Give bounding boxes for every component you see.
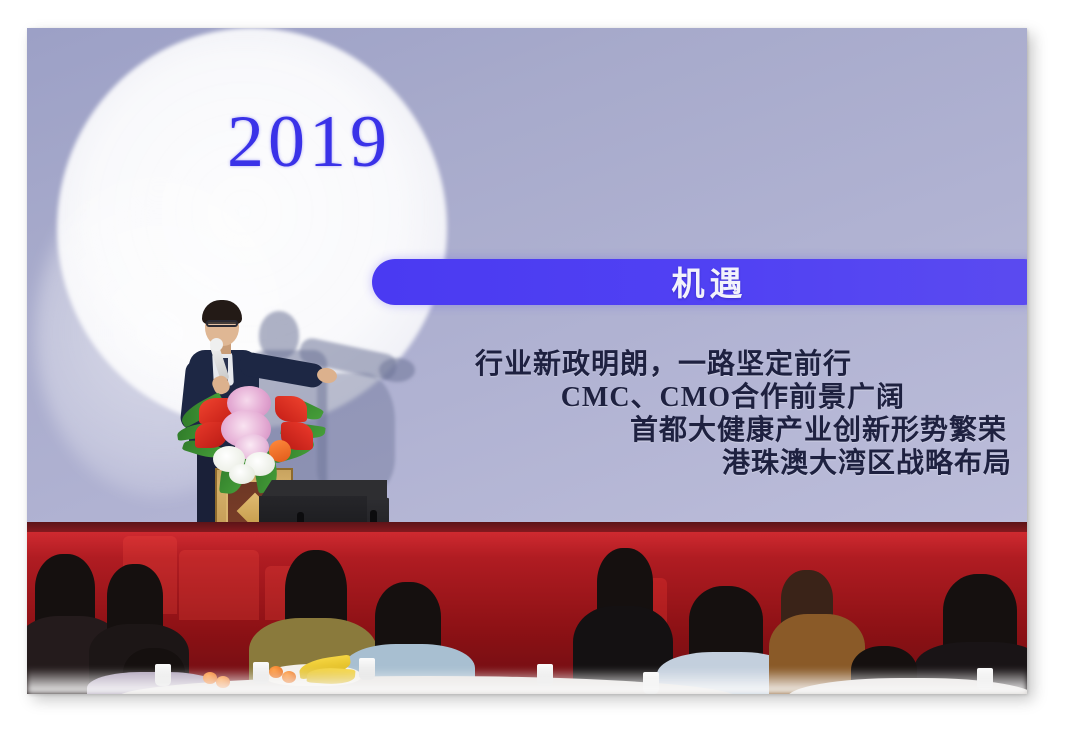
slide-line-3: 首都大健康产业创新形势繁荣 [357,414,1007,447]
glasses-icon [206,320,238,327]
slide-banner-title: 机遇 [672,257,748,305]
photo-bottom-fade [27,668,1027,694]
conference-photo: 2019 机遇 行业新政明朗，一路坚定前行 CMC、CMO合作前景广阔 首都大健… [27,28,1027,694]
audience-head [689,586,763,660]
page-root: 2019 机遇 行业新政明朗，一路坚定前行 CMC、CMO合作前景广阔 首都大健… [0,0,1080,747]
floral-arrangement [177,380,327,490]
slide-banner: 机遇 [372,259,1027,305]
red-flower [275,396,307,422]
slide-line-4: 港珠澳大湾区战略布局 [357,447,1012,480]
microphone-head-icon [210,338,223,351]
slide-line-1: 行业新政明朗，一路坚定前行 [357,348,852,381]
white-flower [229,464,255,484]
slide-body-text: 行业新政明朗，一路坚定前行 CMC、CMO合作前景广阔 首都大健康产业创新形势繁… [357,348,1017,480]
slide-line-2: CMC、CMO合作前景广阔 [357,381,905,414]
slide-year: 2019 [227,100,391,185]
